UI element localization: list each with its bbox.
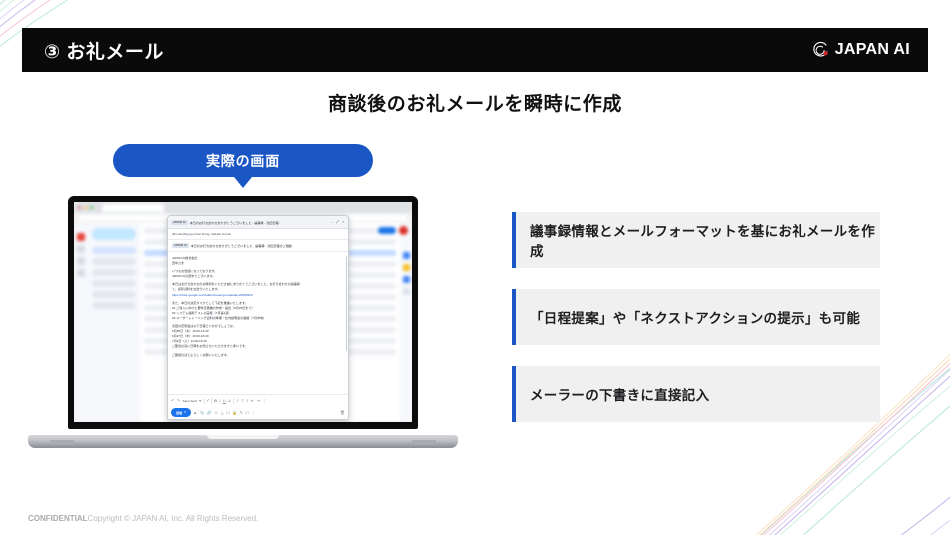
window-close-dot-icon <box>78 206 81 209</box>
brand-logo: JAPAN AI <box>812 41 910 59</box>
compose-subject-text: 本日のお打ち合わせありがとうございました - 議事録 - 次回日程のご相談 <box>191 243 292 248</box>
attachment-icon[interactable]: 📎 <box>200 410 205 415</box>
compose-recipients-field[interactable]: (Roman)Nguyen Duc Dung, Aakash Kumar <box>168 229 348 240</box>
laptop-screen: JAPAN AI 本日のお打ち合わせありがとうございました - 議事録 - 次回… <box>74 202 412 422</box>
toolbar-divider <box>211 398 212 404</box>
slide-root: ③ お礼メール JAPAN AI 商談後のお礼メールを瞬時に作成 実際の画面 <box>0 0 950 535</box>
page-title: ③ お礼メール <box>44 37 164 64</box>
feature-accent-bar <box>512 289 516 345</box>
browser-titlebar <box>74 202 412 213</box>
compose-body[interactable]: JAPAN AI株式会社 田中さま いつもお世話になっております。 JAPAN … <box>168 252 348 394</box>
japan-ai-circle-logo-icon <box>812 41 830 59</box>
confidential-label: CONFIDENTIAL <box>28 514 88 523</box>
italic-button[interactable]: I <box>219 398 220 403</box>
feature-item-2: 「日程提案」や「ネクストアクションの提示」も可能 <box>512 289 880 345</box>
window-minimize-dot-icon <box>84 206 87 209</box>
compose-action-toolbar: 送信 ▾ ▲ 📎 🔗 ☺ △ ☐ 🔒 ✎ ☐ ⋮ 🗑 <box>168 406 348 419</box>
feature-item-1: 議事録情報とメールフォーマットを基にお礼メールを作成 <box>512 212 880 268</box>
indent-increase-icon[interactable]: ⇥ <box>257 398 260 403</box>
feature-item-3: メーラーの下書きに直接記入 <box>512 366 880 422</box>
drive-icon[interactable]: △ <box>221 410 224 415</box>
laptop-foot-right <box>412 440 436 445</box>
compose-titlebar: JAPAN AI 本日のお打ち合わせありがとうございました - 議事録 - 次回… <box>168 216 348 229</box>
sidebar-item-more <box>92 302 136 309</box>
feature-text: 「日程提案」や「ネクストアクションの提示」も可能 <box>530 307 860 327</box>
compose-scrollbar[interactable] <box>346 256 348 351</box>
window-zoom-dot-icon <box>90 206 93 209</box>
calendar-side-icon <box>403 252 410 259</box>
trash-icon[interactable]: 🗑 <box>340 410 345 415</box>
screen-badge-pointer-icon <box>234 177 252 188</box>
gmail-left-rail <box>74 223 88 422</box>
header-bar: ③ お礼メール JAPAN AI <box>22 28 928 72</box>
compose-button <box>92 228 136 240</box>
gmail-sidebar <box>88 223 140 422</box>
compose-subject-field[interactable]: JAPAN AI 本日のお打ち合わせありがとうございました - 議事録 - 次回… <box>168 240 348 252</box>
font-family-selector[interactable]: Sans Serif <box>183 399 197 403</box>
more-options-icon[interactable]: ⋮ <box>262 398 266 403</box>
chevron-down-icon[interactable]: ▾ <box>199 398 201 403</box>
screen-badge: 実際の画面 <box>113 144 373 177</box>
compose-dialog: JAPAN AI 本日のお打ち合わせありがとうございました - 議事録 - 次回… <box>167 215 349 420</box>
sidebar-item-starred <box>92 258 136 265</box>
meet-icon <box>77 269 85 277</box>
chevron-down-icon[interactable]: ▾ <box>184 410 186 414</box>
main-heading: 商談後のお礼メールを瞬時に作成 <box>0 89 950 116</box>
screen-badge-label: 実際の画面 <box>206 151 280 171</box>
sidebar-item-snoozed <box>92 269 136 276</box>
chat-icon <box>77 245 85 253</box>
feature-accent-bar <box>512 366 516 422</box>
text-color-button[interactable]: A <box>228 398 231 403</box>
expand-icon[interactable]: ⤢ <box>335 220 339 224</box>
compose-title-tag: JAPAN AI <box>171 220 188 225</box>
contacts-side-icon <box>403 288 410 295</box>
primary-action-button <box>378 227 396 234</box>
feature-text: 議事録情報とメールフォーマットを基にお礼メールを作成 <box>530 220 880 260</box>
toolbar-divider <box>233 398 234 404</box>
redo-icon[interactable]: ↷ <box>177 398 180 403</box>
browser-tab <box>102 204 164 212</box>
feature-list: 議事録情報とメールフォーマットを基にお礼メールを作成 「日程提案」や「ネクストア… <box>512 212 880 443</box>
brand-name: JAPAN AI <box>835 41 910 59</box>
font-size-icon[interactable]: 𝓁 <box>207 398 208 403</box>
avatar <box>399 226 408 235</box>
indent-decrease-icon[interactable]: ⇤ <box>251 398 254 403</box>
laptop-mockup: JAPAN AI 本日のお打ち合わせありがとうございました - 議事録 - 次回… <box>28 196 458 456</box>
compose-title: 本日のお打ち合わせありがとうございました - 議事録 - 次回日程... <box>190 220 329 225</box>
body-line: ご確認のほどよろしくお願いいたします。 <box>172 353 344 358</box>
laptop-foot-left <box>50 440 74 445</box>
feature-accent-bar <box>512 212 516 268</box>
bulleted-list-icon[interactable]: ≡ <box>246 398 248 403</box>
screen-badge-wrapper: 実際の画面 <box>113 144 373 188</box>
minimize-icon[interactable]: – <box>330 220 333 224</box>
close-icon[interactable]: × <box>342 220 345 224</box>
laptop-base <box>28 435 458 448</box>
laptop-lid: JAPAN AI 本日のお打ち合わせありがとうございました - 議事録 - 次回… <box>68 196 418 429</box>
copyright-label: Copyright © JAPAN AI, Inc. All Rights Re… <box>88 514 259 523</box>
tasks-side-icon <box>403 276 410 283</box>
keep-side-icon <box>403 264 410 271</box>
feature-text: メーラーの下書きに直接記入 <box>530 384 709 404</box>
numbered-list-icon[interactable]: ≡ <box>241 398 243 403</box>
underline-button[interactable]: U <box>223 398 226 403</box>
confidential-mode-icon[interactable]: 🔒 <box>232 410 237 415</box>
send-button-label: 送信 <box>176 410 182 415</box>
spaces-icon <box>77 257 85 265</box>
laptop-notch <box>207 435 279 439</box>
schedule-send-icon[interactable]: ☐ <box>245 410 249 415</box>
gmail-icon <box>77 233 85 241</box>
browser-account-area <box>378 226 408 235</box>
link-icon[interactable]: 🔗 <box>207 410 212 415</box>
signature-icon[interactable]: ✎ <box>240 410 243 415</box>
format-icon[interactable]: ▲ <box>193 410 197 415</box>
footer: CONFIDENTIALCopyright © JAPAN AI, Inc. A… <box>28 514 258 523</box>
sidebar-item-sent <box>92 280 136 287</box>
sidebar-item-drafts <box>92 291 136 298</box>
send-button[interactable]: 送信 ▾ <box>171 408 191 417</box>
undo-icon[interactable]: ↶ <box>171 398 174 403</box>
emoji-icon[interactable]: ☺ <box>214 410 218 415</box>
sidebar-item-inbox <box>92 247 136 254</box>
toolbar-divider <box>204 398 205 404</box>
bold-button[interactable]: B <box>214 398 217 403</box>
gmail-right-rail <box>400 223 412 422</box>
compose-subject-tag: JAPAN AI <box>172 243 189 248</box>
more-options-icon[interactable]: ⋮ <box>251 410 255 415</box>
align-icon[interactable]: ≡ <box>237 398 239 403</box>
compose-format-toolbar: ↶ ↷ Sans Serif ▾ 𝓁 B I U A ≡ ≡ <box>168 394 348 406</box>
insert-image-icon[interactable]: ☐ <box>226 410 230 415</box>
